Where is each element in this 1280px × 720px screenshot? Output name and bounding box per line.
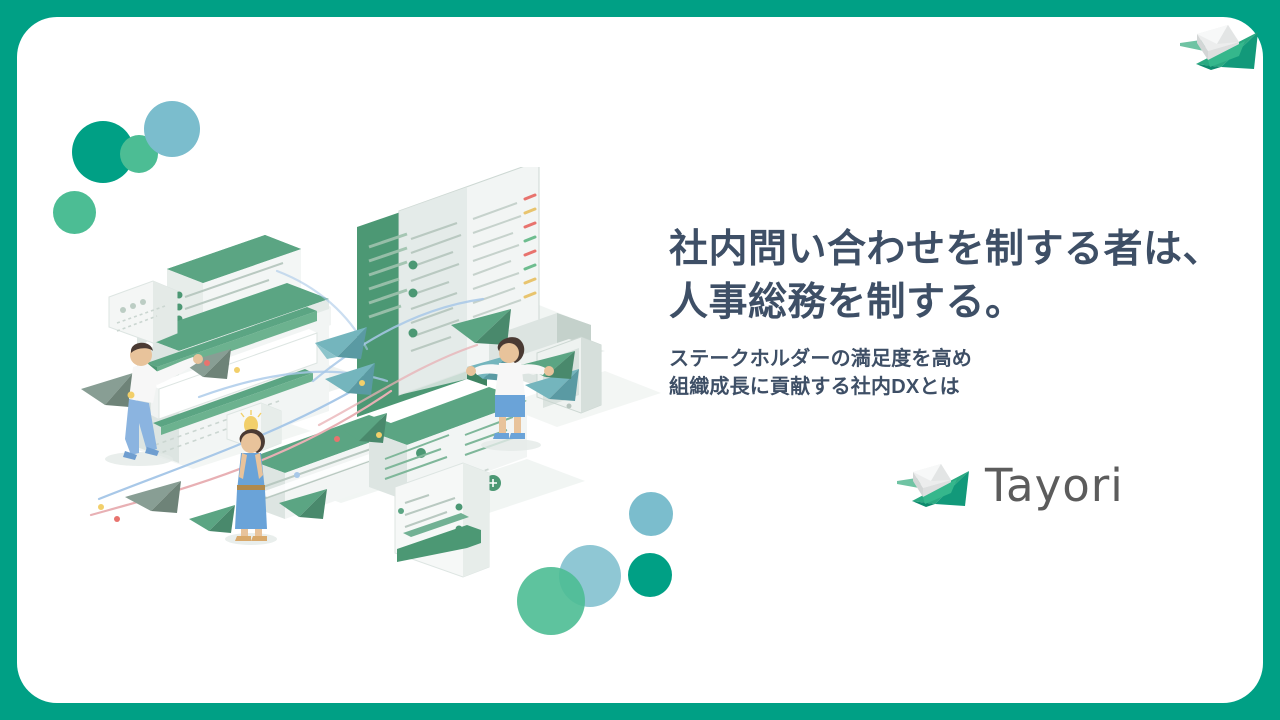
tayori-envelope-plane-logo-icon [895, 457, 971, 513]
slide-root: 社内問い合わせを制する者は、 人事総務を制する。 ステークホルダーの満足度を高め… [0, 0, 1280, 720]
tayori-logo-lockup: Tayori [895, 457, 1124, 513]
tayori-wordmark: Tayori [985, 463, 1124, 508]
isometric-internal-inquiry-dx-illustration [69, 167, 669, 587]
page-subtitle: ステークホルダーの満足度を高め 組織成長に貢献する社内DXとは [669, 345, 1259, 402]
circle-top-light-blue [144, 101, 200, 157]
tayori-corner-brand-mark [1178, 18, 1260, 76]
page-title: 社内問い合わせを制する者は、 人事総務を制する。 [669, 223, 1259, 329]
illustration-message-bubble [109, 281, 177, 343]
slide-card: 社内問い合わせを制する者は、 人事総務を制する。 ステークホルダーの満足度を高め… [17, 17, 1263, 703]
text-block: 社内問い合わせを制する者は、 人事総務を制する。 ステークホルダーの満足度を高め… [669, 223, 1259, 402]
